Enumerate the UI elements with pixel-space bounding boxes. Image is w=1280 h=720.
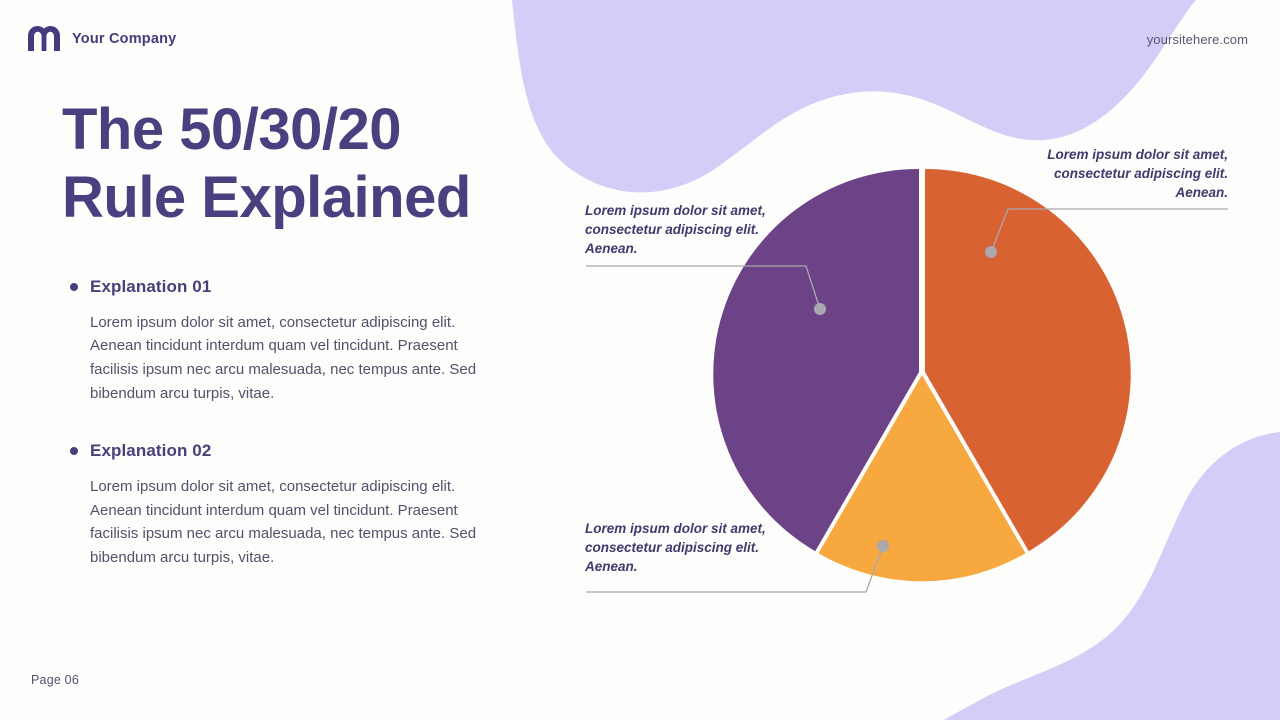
page-number: Page 06: [31, 673, 79, 687]
company-m-logo-icon: [28, 26, 60, 52]
explanation-body: Lorem ipsum dolor sit amet, consectetur …: [90, 475, 505, 569]
explanation-heading: Explanation 02: [62, 441, 532, 461]
left-content-column: The 50/30/20 Rule Explained Explanation …: [62, 96, 532, 605]
explanation-item-01: Explanation 01 Lorem ipsum dolor sit ame…: [62, 277, 532, 405]
explanation-item-02: Explanation 02 Lorem ipsum dolor sit ame…: [62, 441, 532, 569]
title-line-1: The 50/30/20: [62, 97, 401, 162]
brand[interactable]: Your Company: [28, 26, 176, 52]
site-url[interactable]: yoursitehere.com: [1147, 32, 1248, 47]
explanation-heading: Explanation 01: [62, 277, 532, 297]
bullet-dot-icon: [70, 283, 78, 291]
pie-slices: [713, 169, 1130, 581]
brand-name: Your Company: [72, 31, 176, 47]
explanation-body: Lorem ipsum dolor sit amet, consectetur …: [90, 311, 505, 405]
bullet-dot-icon: [70, 447, 78, 455]
page-title: The 50/30/20 Rule Explained: [62, 96, 532, 233]
leader-dot-amber: [877, 540, 889, 552]
explanation-title: Explanation 02: [90, 441, 211, 461]
slide: Your Company yoursitehere.com The 50/30/…: [0, 0, 1280, 720]
leader-dot-purple: [814, 303, 826, 315]
explanation-title: Explanation 01: [90, 277, 211, 297]
leader-dot-orange: [985, 246, 997, 258]
explanation-list: Explanation 01 Lorem ipsum dolor sit ame…: [62, 277, 532, 569]
title-line-2: Rule Explained: [62, 165, 471, 230]
